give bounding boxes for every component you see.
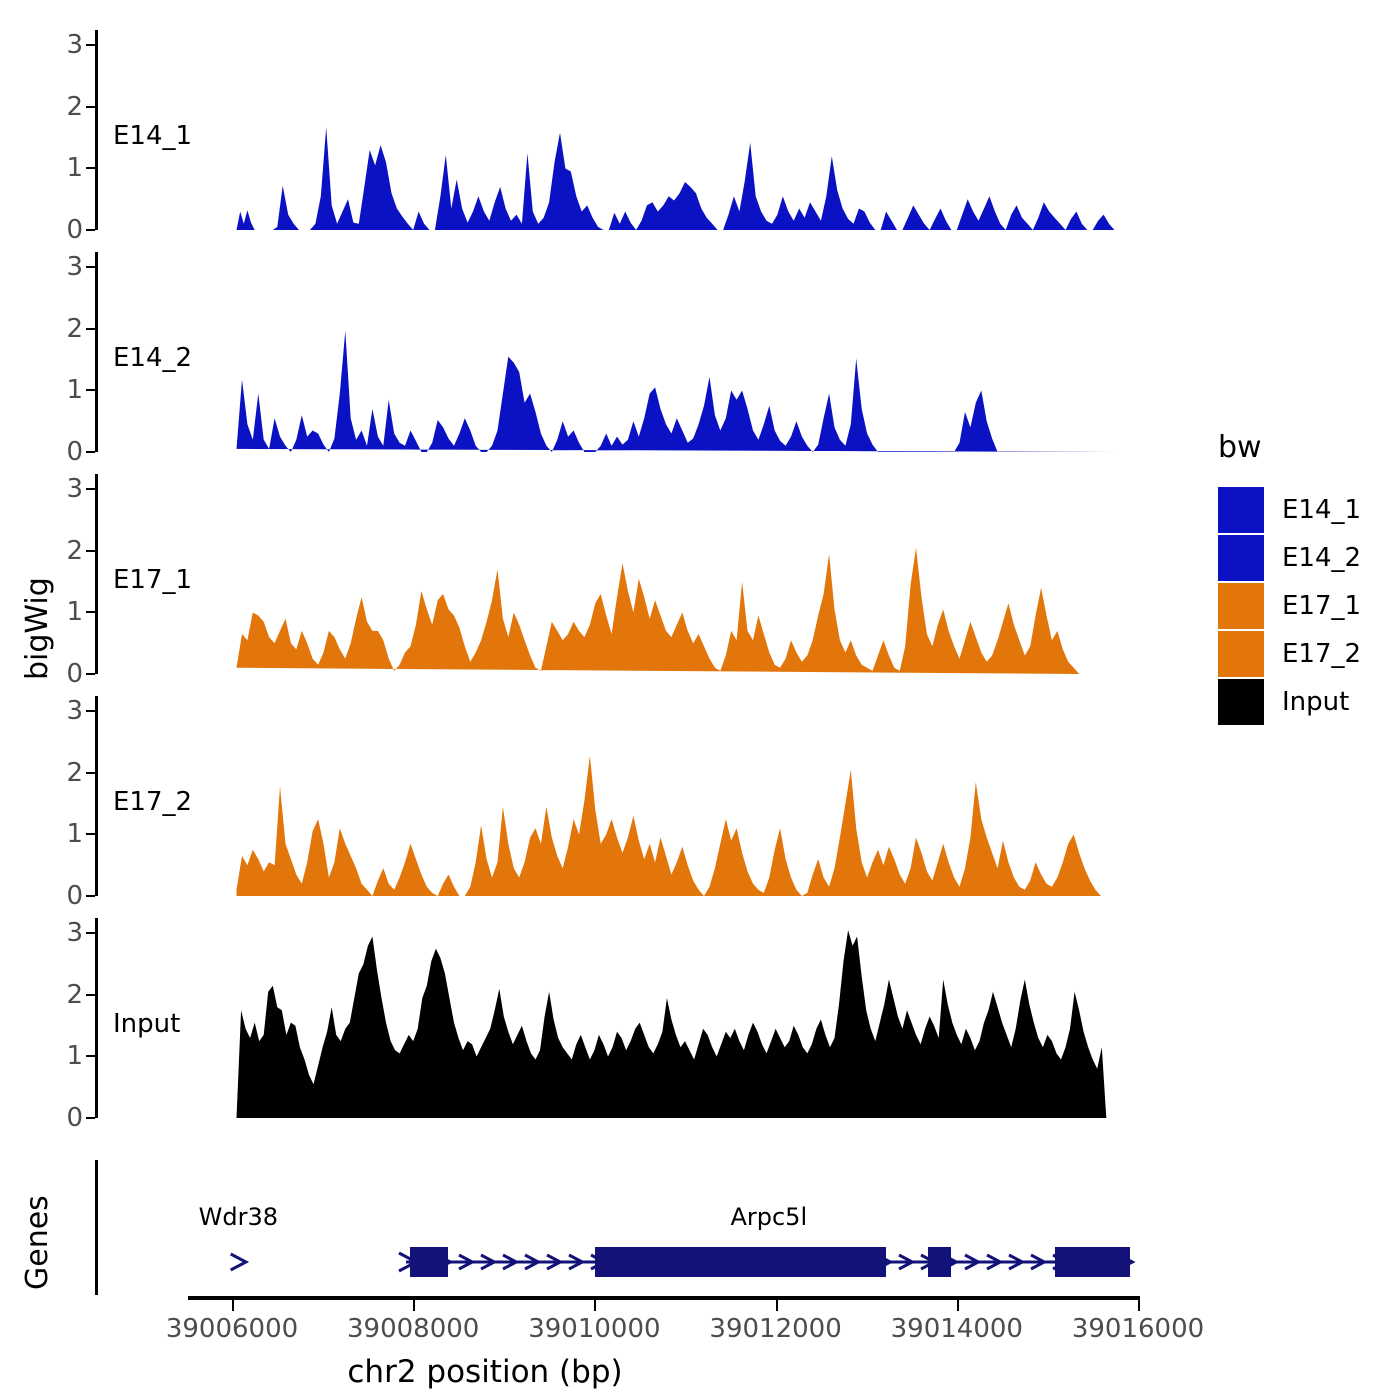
- legend-label: E17_1: [1282, 591, 1361, 621]
- legend-swatch-icon: [1218, 535, 1264, 581]
- x-axis-title: chr2 position (bp): [0, 1354, 1185, 1390]
- y-tick-label: 1: [66, 155, 83, 181]
- y-tick-label: 2: [66, 316, 83, 342]
- legend-item-e17_2[interactable]: E17_2: [1218, 631, 1361, 677]
- y-tick-label: 0: [66, 661, 83, 687]
- y-tick-label: 0: [66, 217, 83, 243]
- bigwig-panel-e14_2: 0123E14_2: [95, 252, 1145, 452]
- signal-area-e17_2: [98, 696, 1145, 896]
- legend: bw E14_1E14_2E17_1E17_2Input: [1218, 430, 1361, 727]
- x-tick: [1138, 1300, 1140, 1311]
- legend-label: E14_2: [1282, 543, 1361, 573]
- y-tick-label: 2: [66, 982, 83, 1008]
- y-tick-label: 1: [66, 1043, 83, 1069]
- strand-arrow-icon: [231, 1254, 246, 1270]
- bigwig-panel-e17_1: 0123E17_1: [95, 474, 1145, 674]
- exon-block[interactable]: [1055, 1247, 1130, 1277]
- signal-area-e17_1: [98, 474, 1145, 674]
- y-tick-label: 1: [66, 377, 83, 403]
- y-tick: [86, 895, 95, 897]
- bigwig-panel-e14_1: 0123E14_1: [95, 30, 1145, 230]
- gene-label-wdr38: Wdr38: [88, 1205, 388, 1229]
- x-tick-label: 39010000: [504, 1316, 684, 1342]
- y-tick: [86, 488, 95, 490]
- y-tick: [86, 229, 95, 231]
- y-tick-label: 3: [66, 698, 83, 724]
- x-axis: 3900600039008000390100003901200039014000…: [0, 1296, 1400, 1396]
- y-tick: [86, 1055, 95, 1057]
- y-tick: [86, 994, 95, 996]
- legend-swatch-icon: [1218, 583, 1264, 629]
- bigwig-panel-e17_2: 0123E17_2: [95, 696, 1145, 896]
- y-tick: [86, 673, 95, 675]
- y-tick-label: 0: [66, 883, 83, 909]
- y-tick: [86, 167, 95, 169]
- y-tick: [86, 1117, 95, 1119]
- legend-item-input[interactable]: Input: [1218, 679, 1361, 725]
- x-tick: [413, 1300, 415, 1311]
- legend-label: E14_1: [1282, 495, 1361, 525]
- legend-item-e14_2[interactable]: E14_2: [1218, 535, 1361, 581]
- x-tick: [594, 1300, 596, 1311]
- x-tick-label: 39012000: [686, 1316, 866, 1342]
- gene-label-arpc5l: Arpc5l: [619, 1205, 919, 1229]
- legend-swatch-icon: [1218, 487, 1264, 533]
- y-tick-label: 2: [66, 760, 83, 786]
- y-tick: [86, 611, 95, 613]
- signal-area-input: [98, 918, 1145, 1118]
- y-tick: [86, 932, 95, 934]
- y-tick: [86, 266, 95, 268]
- y-tick: [86, 44, 95, 46]
- y-tick: [86, 451, 95, 453]
- y-tick-label: 1: [66, 599, 83, 625]
- y-tick: [86, 389, 95, 391]
- y-tick-label: 2: [66, 94, 83, 120]
- x-tick-label: 39016000: [1048, 1316, 1228, 1342]
- legend-swatch-icon: [1218, 679, 1264, 725]
- legend-label: Input: [1282, 687, 1349, 717]
- y-axis-title-genes: Genes: [20, 1170, 55, 1290]
- bigwig-panel-input: 0123Input: [95, 918, 1145, 1118]
- y-tick-label: 2: [66, 538, 83, 564]
- y-tick: [86, 106, 95, 108]
- y-tick-label: 0: [66, 1105, 83, 1131]
- y-tick: [86, 710, 95, 712]
- legend-title: bw: [1218, 430, 1361, 465]
- x-tick: [232, 1300, 234, 1311]
- y-tick: [86, 772, 95, 774]
- y-axis-title-bigwig: bigWig: [20, 480, 55, 680]
- y-tick-label: 3: [66, 476, 83, 502]
- legend-entries: E14_1E14_2E17_1E17_2Input: [1218, 487, 1361, 725]
- legend-label: E17_2: [1282, 639, 1361, 669]
- legend-item-e17_1[interactable]: E17_1: [1218, 583, 1361, 629]
- y-tick-label: 3: [66, 32, 83, 58]
- y-tick-label: 0: [66, 439, 83, 465]
- x-tick-label: 39006000: [142, 1316, 322, 1342]
- signal-area-e14_1: [98, 30, 1145, 230]
- exon-block[interactable]: [928, 1247, 951, 1277]
- y-tick-label: 3: [66, 920, 83, 946]
- y-tick-label: 1: [66, 821, 83, 847]
- x-tick-label: 39014000: [867, 1316, 1047, 1342]
- y-tick: [86, 328, 95, 330]
- x-axis-line: [188, 1296, 1140, 1300]
- exon-block[interactable]: [595, 1247, 886, 1277]
- legend-swatch-icon: [1218, 631, 1264, 677]
- x-tick: [776, 1300, 778, 1311]
- legend-item-e14_1[interactable]: E14_1: [1218, 487, 1361, 533]
- y-tick-label: 3: [66, 254, 83, 280]
- y-tick: [86, 833, 95, 835]
- signal-area-e14_2: [98, 252, 1145, 452]
- x-tick-label: 39008000: [323, 1316, 503, 1342]
- y-tick: [86, 550, 95, 552]
- x-tick: [957, 1300, 959, 1311]
